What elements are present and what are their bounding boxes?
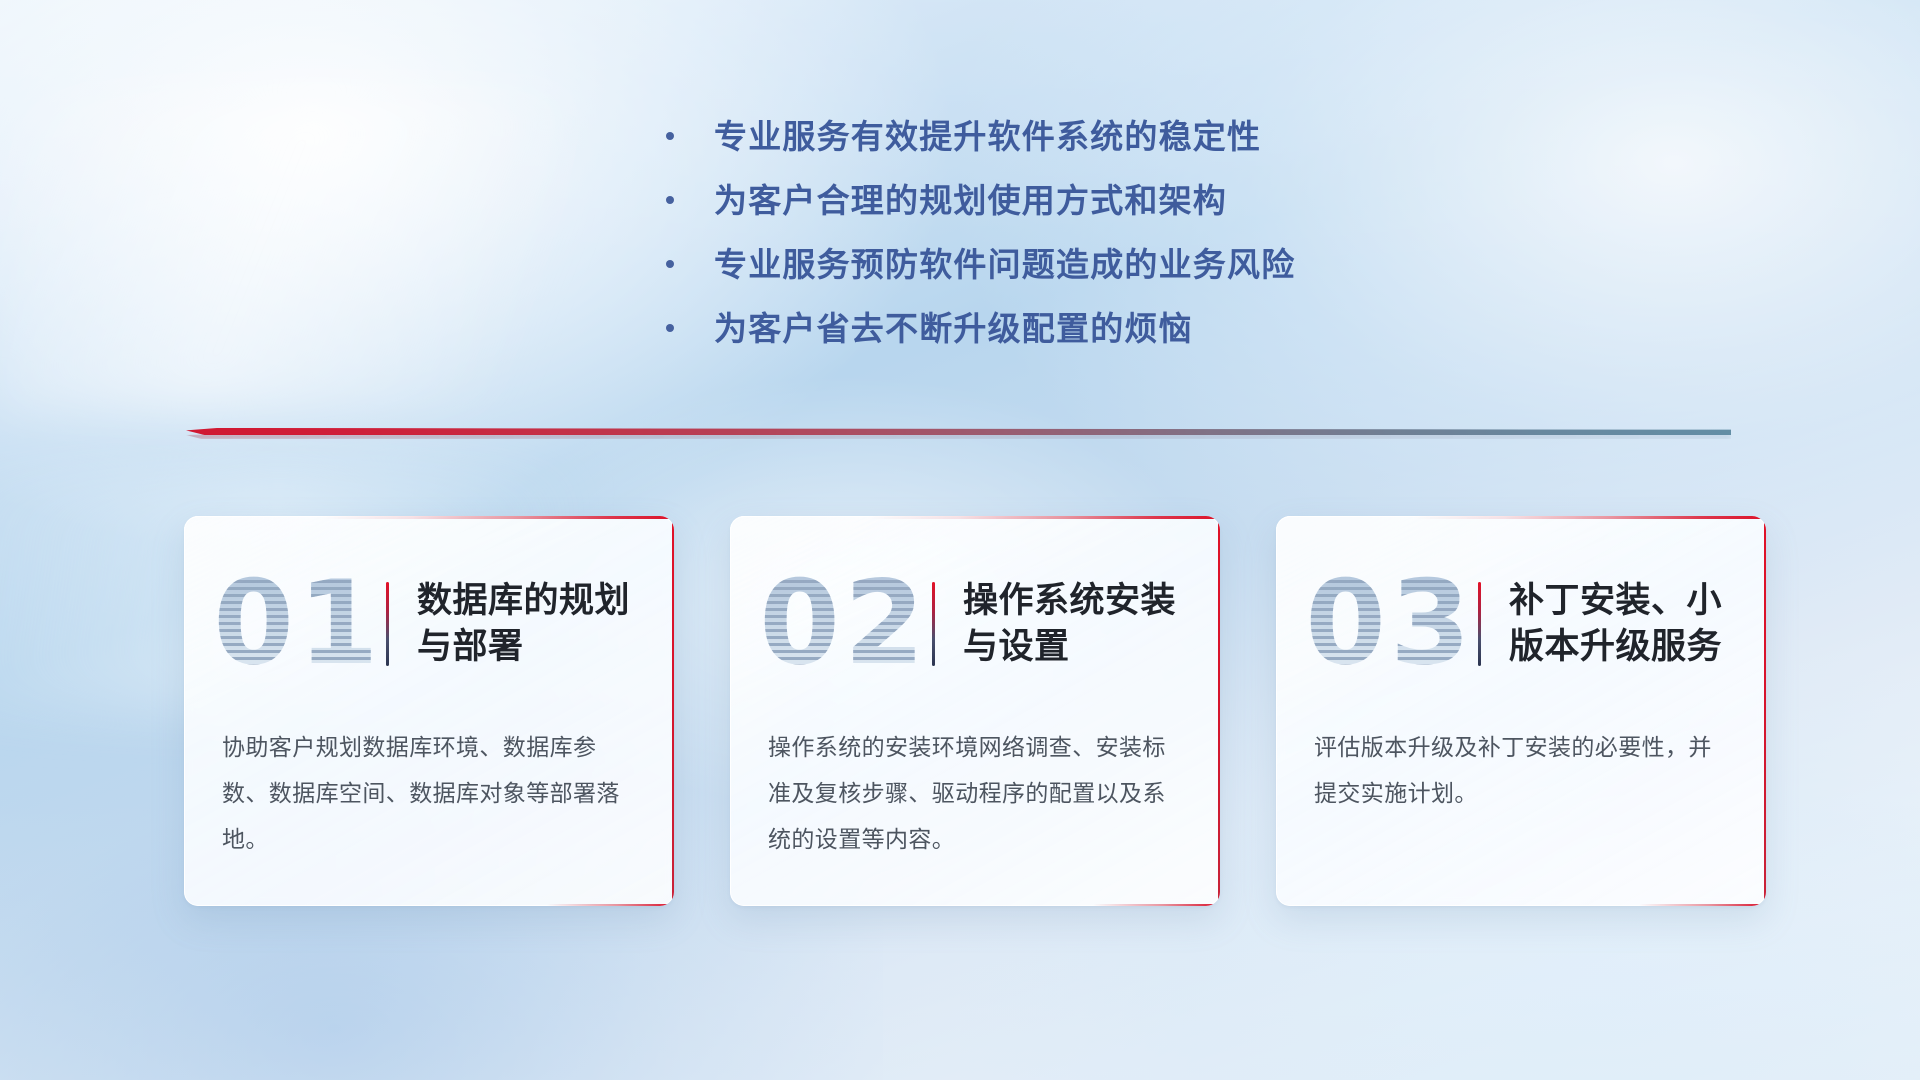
card-accent-top-edge <box>321 516 674 519</box>
card-number-watermark: 01 <box>210 566 386 682</box>
bullet-item-label: 专业服务有效提升软件系统的稳定性 <box>714 120 1261 153</box>
service-card[interactable]: 03 补丁安装、小版本升级服务 评估版本升级及补丁安装的必要性，并提交实施计划。 <box>1276 516 1766 906</box>
card-number-label: 02 <box>759 566 928 682</box>
benefits-bullet-list: 专业服务有效提升软件系统的稳定性 为客户合理的规划使用方式和架构 专业服务预防软… <box>660 104 1295 360</box>
bullet-dot-icon <box>666 196 674 204</box>
card-description: 协助客户规划数据库环境、数据库参数、数据库空间、数据库对象等部署落地。 <box>222 724 640 862</box>
card-number-watermark: 02 <box>756 566 932 682</box>
bullet-item-label: 专业服务预防软件问题造成的业务风险 <box>714 248 1295 281</box>
card-accent-bottom-edge <box>1639 904 1766 907</box>
card-title: 操作系统安装与设置 <box>963 578 1220 670</box>
service-card-list: 01 数据库的规划与部署 协助客户规划数据库环境、数据库参数、数据库空间、数据库… <box>184 516 1766 906</box>
list-item: 专业服务预防软件问题造成的业务风险 <box>660 232 1295 296</box>
card-header: 03 补丁安装、小版本升级服务 <box>1276 560 1766 688</box>
bullet-item-label: 为客户省去不断升级配置的烦恼 <box>714 312 1193 345</box>
bullet-dot-icon <box>666 324 674 332</box>
card-accent-top-edge <box>867 516 1220 519</box>
card-title-accent-bar <box>386 582 389 666</box>
bullet-item-label: 为客户合理的规划使用方式和架构 <box>714 184 1227 217</box>
list-item: 专业服务有效提升软件系统的稳定性 <box>660 104 1295 168</box>
list-item: 为客户合理的规划使用方式和架构 <box>660 168 1295 232</box>
divider-red-gradient-line <box>186 428 1731 435</box>
bullet-dot-icon <box>666 260 674 268</box>
card-title: 数据库的规划与部署 <box>417 578 674 670</box>
bullet-dot-icon <box>666 132 674 140</box>
list-item: 为客户省去不断升级配置的烦恼 <box>660 296 1295 360</box>
card-title: 补丁安装、小版本升级服务 <box>1509 578 1766 670</box>
card-number-label: 03 <box>1305 566 1474 682</box>
service-card[interactable]: 01 数据库的规划与部署 协助客户规划数据库环境、数据库参数、数据库空间、数据库… <box>184 516 674 906</box>
card-description: 操作系统的安装环境网络调查、安装标准及复核步骤、驱动程序的配置以及系统的设置等内… <box>768 724 1186 862</box>
card-accent-bottom-edge <box>1093 904 1220 907</box>
section-divider <box>186 424 1731 440</box>
service-card[interactable]: 02 操作系统安装与设置 操作系统的安装环境网络调查、安装标准及复核步骤、驱动程… <box>730 516 1220 906</box>
card-title-accent-bar <box>1478 582 1481 666</box>
card-accent-bottom-edge <box>547 904 674 907</box>
card-header: 01 数据库的规划与部署 <box>184 560 674 688</box>
card-title-accent-bar <box>932 582 935 666</box>
card-description: 评估版本升级及补丁安装的必要性，并提交实施计划。 <box>1314 724 1732 816</box>
slide-root: 专业服务有效提升软件系统的稳定性 为客户合理的规划使用方式和架构 专业服务预防软… <box>0 0 1920 1080</box>
card-header: 02 操作系统安装与设置 <box>730 560 1220 688</box>
card-number-label: 01 <box>213 566 382 682</box>
card-accent-top-edge <box>1413 516 1766 519</box>
card-number-watermark: 03 <box>1302 566 1478 682</box>
